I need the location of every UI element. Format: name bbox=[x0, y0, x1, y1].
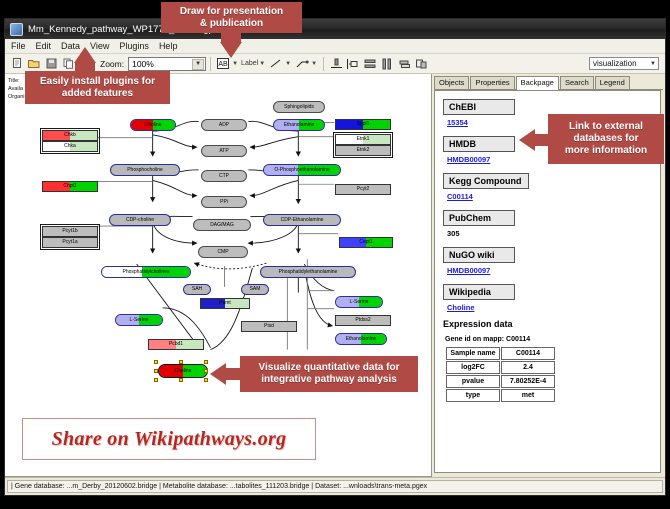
line-tool-icon[interactable] bbox=[268, 56, 284, 72]
gene-node[interactable]: Pemt bbox=[200, 298, 250, 309]
callout-draw-arrow bbox=[220, 42, 242, 58]
metabolite-node[interactable]: Phosphocholine bbox=[110, 164, 180, 176]
callout-plugins-arrow bbox=[74, 47, 96, 63]
chevron-down-icon[interactable]: ▼ bbox=[192, 59, 204, 70]
metabolite-node[interactable]: PPi bbox=[201, 196, 247, 208]
window-titlebar: Mm_Kennedy_pathway_WP1771_45176.gpml bbox=[5, 19, 665, 39]
selection-handle[interactable] bbox=[204, 360, 208, 364]
tab-search[interactable]: Search bbox=[560, 76, 594, 89]
callout-links-line2: databases for bbox=[565, 133, 647, 145]
gene-node[interactable]: Chka bbox=[42, 141, 98, 152]
callout-links-line3: more information bbox=[565, 145, 647, 157]
expr-value: met bbox=[501, 389, 555, 402]
callout-plugins: Easily install plugins for added feature… bbox=[25, 71, 170, 104]
expr-key: Sample name bbox=[446, 347, 500, 360]
gene-node[interactable]: Pisd bbox=[241, 321, 297, 332]
metabolite-node[interactable]: CMP bbox=[198, 246, 248, 258]
gene-node[interactable]: Ptdss2 bbox=[335, 315, 391, 326]
gene-node[interactable]: Pcyt2 bbox=[335, 184, 391, 195]
db-link-kegg[interactable]: C00114 bbox=[447, 192, 660, 201]
metabolite-node[interactable]: Phosphatidylethanolamine bbox=[260, 266, 356, 278]
metabolite-node[interactable]: CTP bbox=[201, 170, 247, 182]
table-row: log2FC 2.4 bbox=[446, 361, 555, 374]
chevron-down-icon[interactable]: ▼ bbox=[285, 61, 291, 67]
save-icon[interactable] bbox=[43, 56, 59, 72]
align-top-icon[interactable] bbox=[328, 56, 344, 72]
open-folder-icon[interactable] bbox=[26, 56, 42, 72]
callout-links-arrow bbox=[519, 129, 535, 151]
gene-node[interactable]: Pcyt1b bbox=[42, 226, 98, 237]
gene-node[interactable]: Pcbd1 bbox=[148, 339, 204, 350]
db-header-kegg: Kegg Compound bbox=[443, 173, 529, 189]
label-tool-icon[interactable]: Label bbox=[241, 60, 258, 67]
side-panel-tabs: Objects Properties Backpage Search Legen… bbox=[434, 76, 663, 90]
callout-visualize-arrow-tail bbox=[225, 368, 241, 380]
metabolite-node[interactable]: Ethanolamine bbox=[335, 333, 387, 345]
zoom-combo[interactable]: 100% ▼ bbox=[128, 57, 206, 71]
db-link-nugo[interactable]: HMDB00097 bbox=[447, 266, 660, 275]
tab-legend[interactable]: Legend bbox=[595, 76, 630, 89]
toolbar-separator bbox=[210, 57, 211, 71]
callout-plugins-arrow-tail bbox=[75, 62, 95, 72]
chevron-down-icon[interactable]: ▼ bbox=[259, 61, 265, 67]
tab-objects[interactable]: Objects bbox=[434, 76, 469, 89]
statusbar: | Gene database: ...m_Derby_20120602.bri… bbox=[5, 477, 665, 495]
metabolite-node[interactable]: CDP-Ethanolamine bbox=[263, 214, 341, 226]
callout-visualize-arrow bbox=[210, 363, 226, 385]
gene-id-line: Gene id on mapp: C00114 bbox=[445, 336, 660, 343]
menu-file[interactable]: File bbox=[5, 41, 31, 51]
gene-node[interactable]: Etnk2 bbox=[335, 145, 391, 156]
callout-links-line1: Link to external bbox=[565, 121, 647, 133]
metabolite-node[interactable]: L-Serine bbox=[115, 314, 163, 326]
selection-handle[interactable] bbox=[179, 378, 183, 382]
metabolite-node[interactable]: ADP bbox=[201, 119, 247, 131]
tab-backpage[interactable]: Backpage bbox=[516, 76, 559, 90]
pathway-canvas[interactable]: Title: Availa Organi bbox=[5, 74, 432, 477]
expr-key: pvalue bbox=[446, 375, 500, 388]
callout-visualize-line2: integrative pathway analysis bbox=[259, 374, 400, 386]
db-link-wikipedia[interactable]: Choline bbox=[447, 303, 660, 312]
expr-key: type bbox=[446, 389, 500, 402]
interaction-tool-icon[interactable] bbox=[294, 56, 310, 72]
table-row: pvalue 7.80252E-4 bbox=[446, 375, 555, 388]
callout-draw: Draw for presentation & publication bbox=[161, 2, 302, 33]
metabolite-node[interactable]: Ethanolamine bbox=[273, 119, 325, 131]
metabolite-node[interactable]: ATP bbox=[201, 145, 247, 157]
stack-icon[interactable] bbox=[396, 56, 412, 72]
callout-draw-line2: & publication bbox=[180, 18, 283, 30]
expression-data-title: Expression data bbox=[443, 319, 660, 329]
callout-plugins-line2: added features bbox=[40, 88, 155, 100]
db-value-pubchem: 305 bbox=[447, 229, 660, 238]
gene-node[interactable]: Sgpl1 bbox=[335, 119, 391, 130]
app-icon bbox=[10, 23, 23, 36]
selection-handle[interactable] bbox=[179, 360, 183, 364]
gene-node[interactable]: Chkb bbox=[42, 130, 98, 141]
gene-node[interactable]: Chpt1 bbox=[42, 181, 98, 192]
callout-links: Link to external databases for more info… bbox=[548, 114, 664, 164]
metabolite-node[interactable]: Choline bbox=[130, 119, 176, 131]
align-left-icon[interactable] bbox=[345, 56, 361, 72]
db-header-nugo: NuGO wiki bbox=[443, 247, 515, 263]
metabolite-node[interactable]: CDP-choline bbox=[109, 214, 171, 226]
screenshot-root: Mm_Kennedy_pathway_WP1771_45176.gpml Fil… bbox=[0, 0, 670, 509]
metabolite-node-selected[interactable]: Choline bbox=[158, 364, 208, 378]
chevron-down-icon[interactable]: ▼ bbox=[650, 61, 656, 67]
share-banner: Share on Wikipathways.org bbox=[22, 418, 316, 460]
metabolite-node[interactable]: Phosphatidylcholines bbox=[101, 266, 191, 278]
db-header-hmdb: HMDB bbox=[443, 136, 515, 152]
new-file-icon[interactable] bbox=[9, 56, 25, 72]
metabolite-node[interactable]: SAH bbox=[183, 284, 211, 295]
db-header-wikipedia: Wikipedia bbox=[443, 284, 515, 300]
visualization-combo[interactable]: visualization ▼ bbox=[589, 57, 659, 70]
chevron-down-icon[interactable]: ▼ bbox=[311, 61, 317, 67]
order-icon[interactable] bbox=[413, 56, 429, 72]
expr-key: log2FC bbox=[446, 361, 500, 374]
chevron-down-icon[interactable]: ▼ bbox=[232, 61, 238, 67]
table-row: Sample name C00114 bbox=[446, 347, 555, 360]
selection-handle[interactable] bbox=[154, 369, 158, 373]
menubar: File Edit Data View Plugins Help bbox=[5, 39, 665, 54]
metabolite-node[interactable]: DAG/MAG bbox=[193, 219, 251, 231]
callout-links-arrow-tail bbox=[533, 134, 549, 146]
svg-text:AB: AB bbox=[218, 61, 228, 68]
tab-properties[interactable]: Properties bbox=[470, 76, 514, 89]
distribute-horizontal-icon[interactable] bbox=[379, 56, 395, 72]
share-text: Share on Wikipathways.org bbox=[52, 428, 287, 451]
visualization-value: visualization bbox=[593, 59, 637, 68]
db-header-pubchem: PubChem bbox=[443, 210, 515, 226]
callout-draw-line1: Draw for presentation bbox=[180, 6, 283, 18]
metabolite-node[interactable]: L-Serine bbox=[335, 296, 383, 308]
distribute-vertical-icon[interactable] bbox=[362, 56, 378, 72]
menu-edit[interactable]: Edit bbox=[31, 41, 57, 51]
selection-handle[interactable] bbox=[154, 378, 158, 382]
gene-node[interactable]: Etnk1 bbox=[335, 134, 391, 145]
zoom-value: 100% bbox=[132, 59, 154, 69]
gene-node[interactable]: Pcyt1a bbox=[42, 237, 98, 248]
callout-plugins-line1: Easily install plugins for bbox=[40, 76, 155, 88]
toolbar-separator bbox=[323, 57, 324, 71]
menu-plugins[interactable]: Plugins bbox=[114, 41, 154, 51]
expression-table: Sample name C00114 log2FC 2.4 pvalue 7.8… bbox=[445, 346, 556, 403]
gene-node[interactable]: Cept1 bbox=[339, 237, 393, 248]
menu-help[interactable]: Help bbox=[154, 41, 183, 51]
expr-value: 2.4 bbox=[501, 361, 555, 374]
status-text: | Gene database: ...m_Derby_20120602.bri… bbox=[7, 480, 663, 493]
selection-handle[interactable] bbox=[154, 360, 158, 364]
selection-handle[interactable] bbox=[204, 378, 208, 382]
selection-handle[interactable] bbox=[204, 369, 208, 373]
callout-visualize: Visualize quantitative data for integrat… bbox=[240, 356, 418, 392]
table-row: type met bbox=[446, 389, 555, 402]
expr-value: 7.80252E-4 bbox=[501, 375, 555, 388]
metabolite-node[interactable]: Sphingolipids bbox=[273, 101, 325, 113]
metabolite-node[interactable]: O-Phosphoethanolamine bbox=[263, 164, 341, 176]
db-header-chebi: ChEBI bbox=[443, 99, 515, 115]
zoom-label: Zoom: bbox=[100, 59, 124, 69]
metabolite-node[interactable]: SAM bbox=[241, 284, 269, 295]
expr-value: C00114 bbox=[501, 347, 555, 360]
callout-visualize-line1: Visualize quantitative data for bbox=[259, 362, 400, 374]
